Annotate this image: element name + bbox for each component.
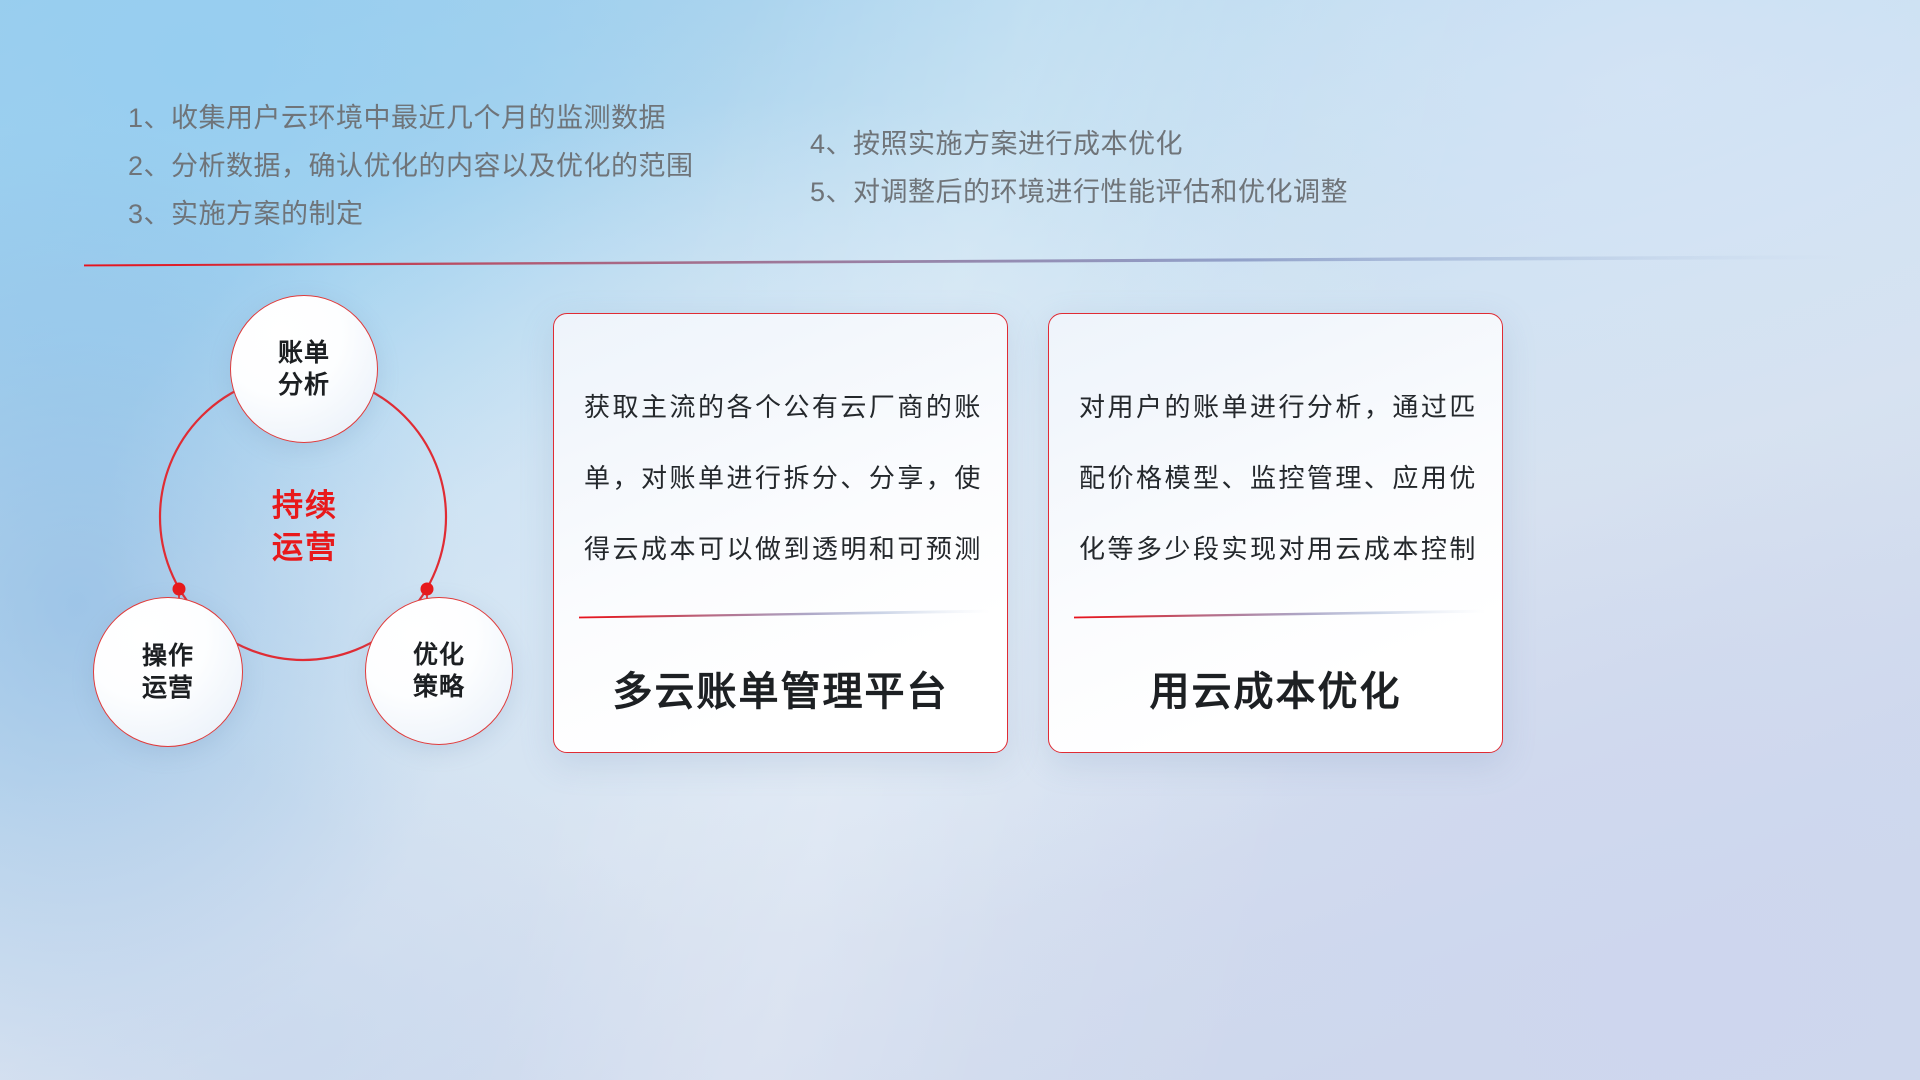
section-divider-rule [84, 253, 1844, 267]
center-label-line1: 持续 [235, 485, 375, 527]
card-body-text: 获取主流的各个公有云厂商的账单，对账单进行拆分、分享，使得云成本可以做到透明和可… [584, 372, 981, 585]
card-divider [1074, 606, 1484, 617]
node-label-line1: 操作 [142, 640, 194, 672]
diagram-node-optimize-strategy[interactable]: 优化 策略 [365, 597, 513, 745]
step-item-4: 4、按照实施方案进行成本优化 [810, 120, 1348, 168]
card-divider [579, 606, 989, 617]
node-label-line2: 运营 [142, 672, 194, 704]
step-item-1: 1、收集用户云环境中最近几个月的监测数据 [128, 94, 694, 142]
diagram-center-label: 持续 运营 [235, 485, 375, 569]
card-body-text: 对用户的账单进行分析，通过匹配价格模型、监控管理、应用优化等多少段实现对用云成本… [1079, 372, 1476, 585]
card-divider-shape [1074, 608, 1484, 619]
center-label-line2: 运营 [235, 527, 375, 569]
continuous-operation-diagram: 账单 分析 操作 运营 优化 策略 持续 运营 [75, 285, 595, 785]
step-item-2: 2、分析数据，确认优化的内容以及优化的范围 [128, 142, 694, 190]
steps-left-column: 1、收集用户云环境中最近几个月的监测数据 2、分析数据，确认优化的内容以及优化的… [128, 94, 694, 238]
node-label-line2: 分析 [278, 369, 330, 401]
node-label-line1: 账单 [278, 337, 330, 369]
node-label-line1: 优化 [413, 639, 465, 671]
card-title: 多云账单管理平台 [554, 659, 1007, 717]
step-item-5: 5、对调整后的环境进行性能评估和优化调整 [810, 168, 1348, 216]
node-label-line2: 策略 [413, 671, 465, 703]
steps-right-column: 4、按照实施方案进行成本优化 5、对调整后的环境进行性能评估和优化调整 [810, 120, 1348, 216]
card-divider-shape [579, 608, 989, 619]
step-item-3: 3、实施方案的制定 [128, 190, 694, 238]
diagram-node-billing-analysis[interactable]: 账单 分析 [230, 295, 378, 443]
card-title: 用云成本优化 [1049, 659, 1502, 717]
diagram-node-operations[interactable]: 操作 运营 [93, 597, 243, 747]
feature-card-multi-cloud-billing-platform[interactable]: 获取主流的各个公有云厂商的账单，对账单进行拆分、分享，使得云成本可以做到透明和可… [553, 313, 1008, 753]
divider-rule-shape [84, 253, 1844, 267]
feature-card-cloud-cost-optimization[interactable]: 对用户的账单进行分析，通过匹配价格模型、监控管理、应用优化等多少段实现对用云成本… [1048, 313, 1503, 753]
